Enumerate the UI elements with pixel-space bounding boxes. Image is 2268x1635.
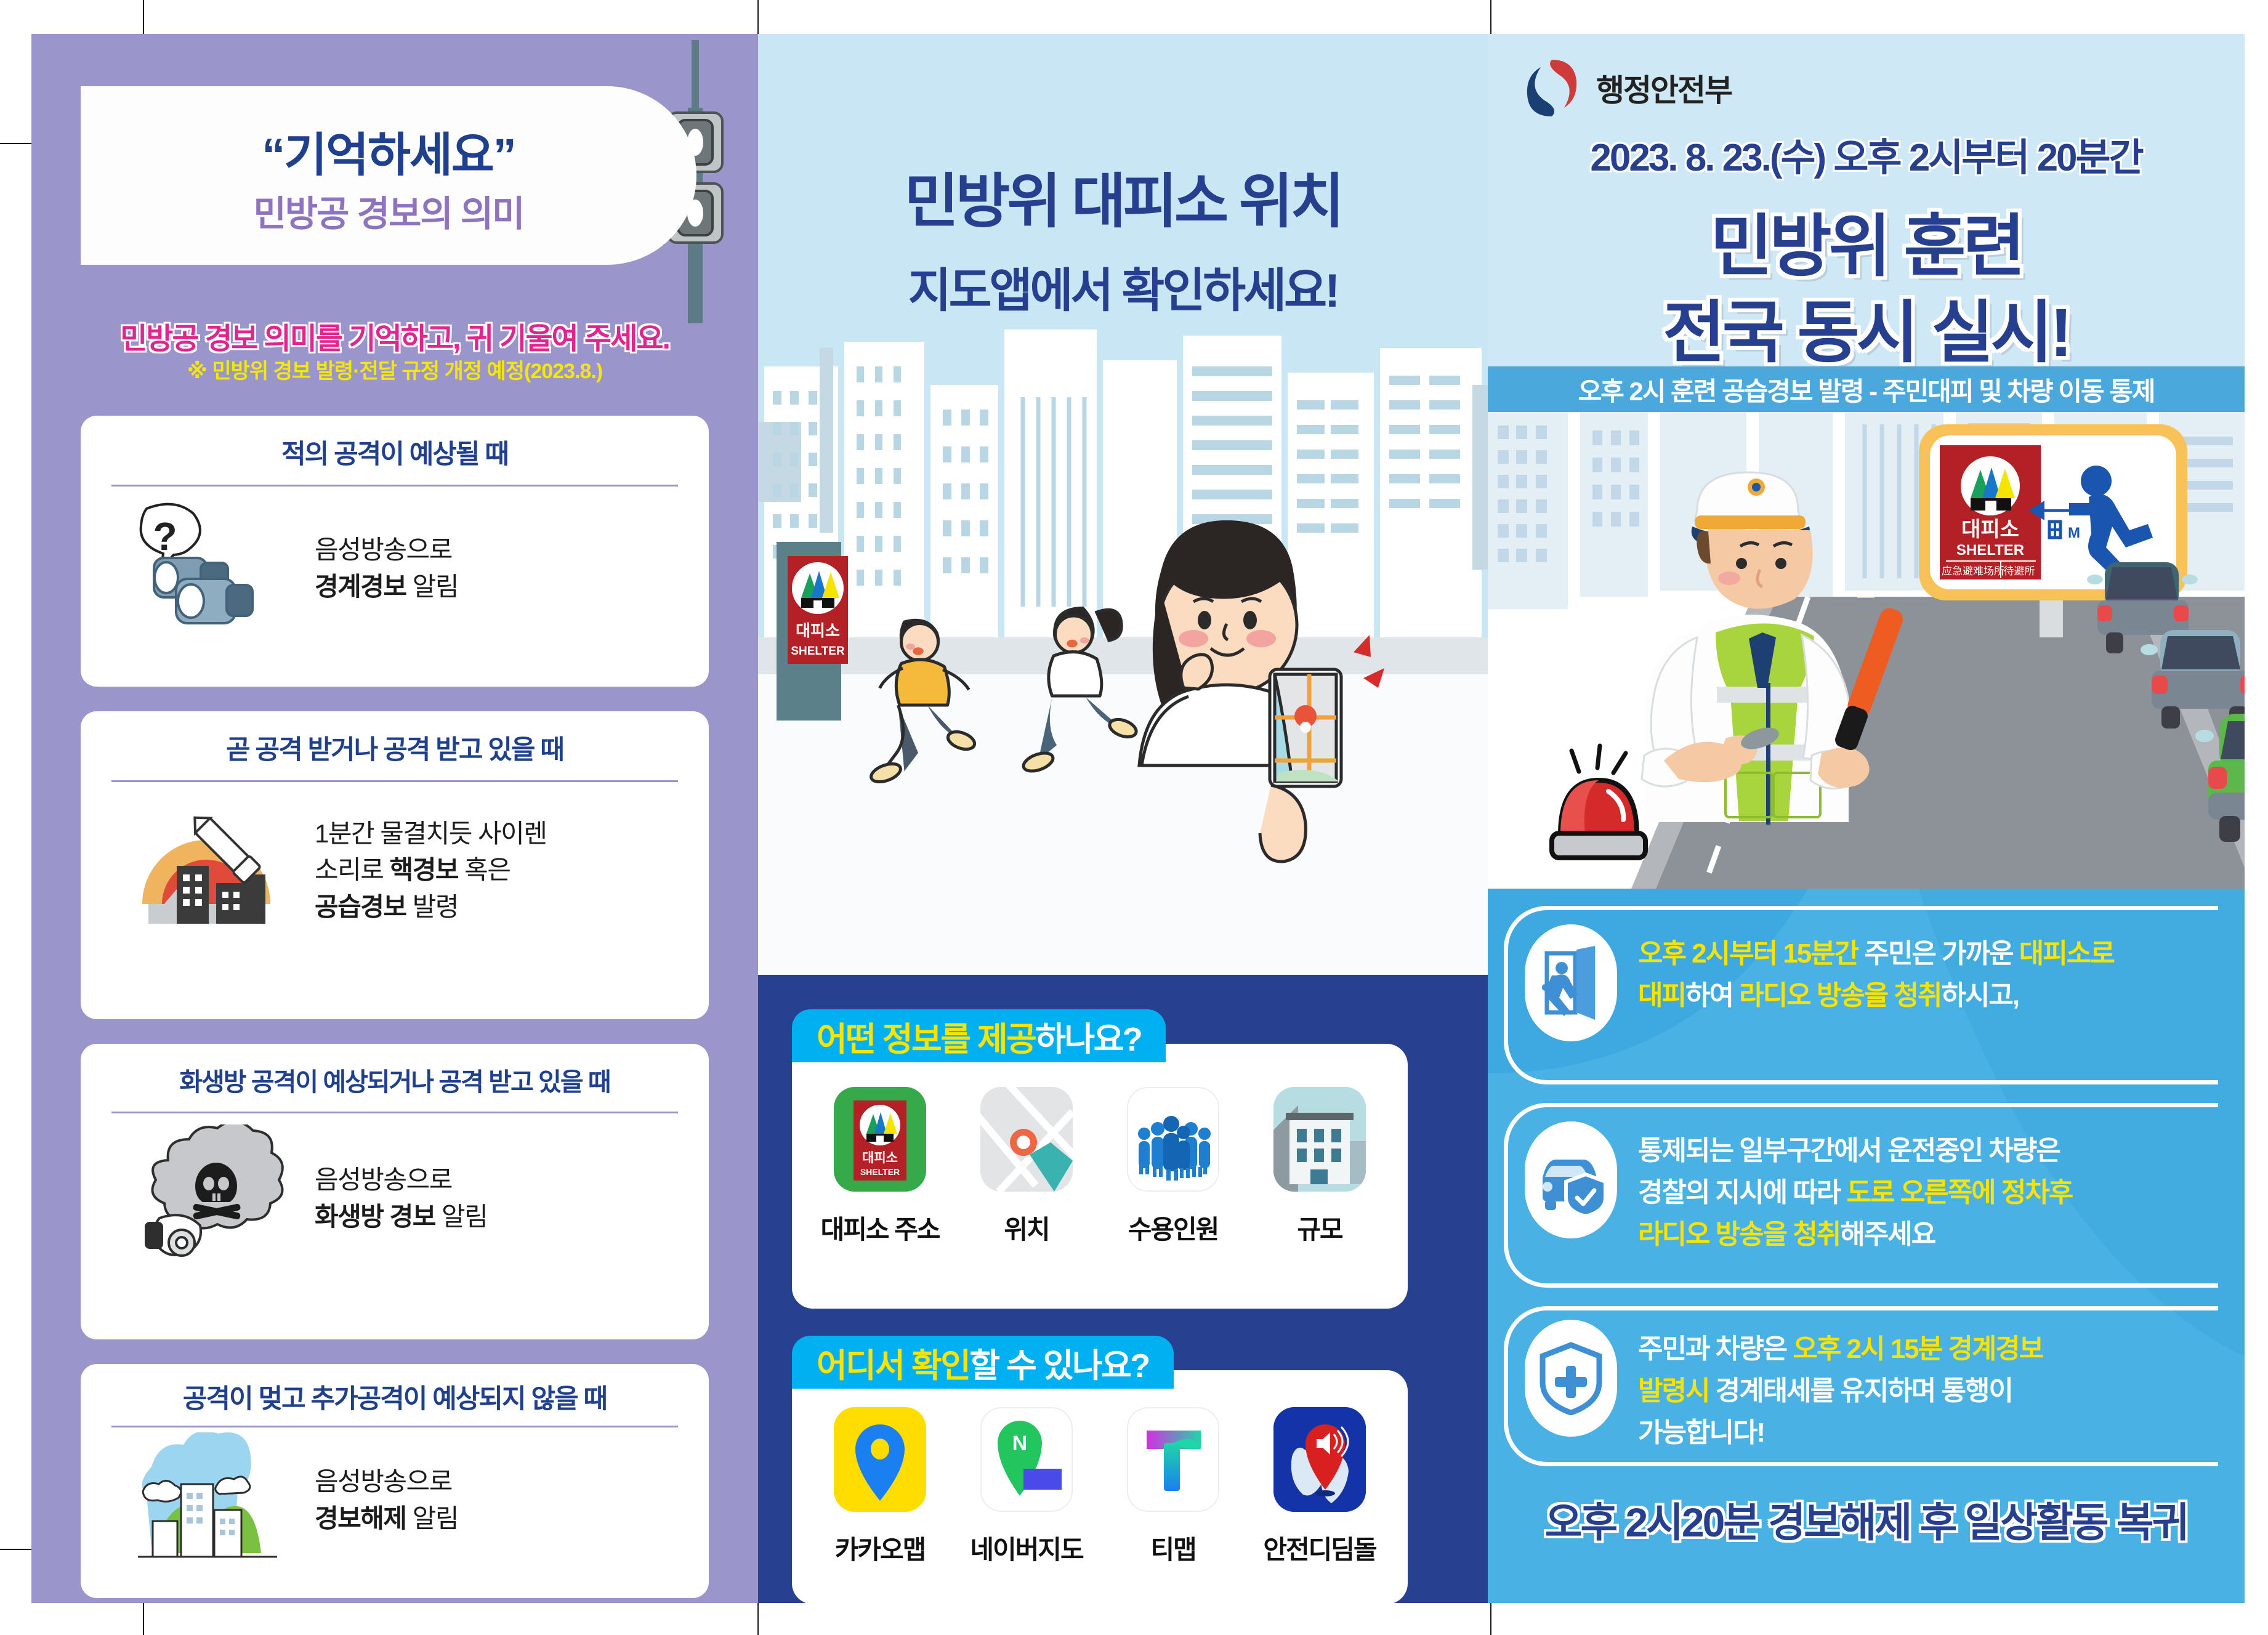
info-item-label: 위치 [965, 1209, 1088, 1246]
alert-card-4-line2-rest: 알림 [406, 1504, 458, 1533]
peaceful-city-icon [105, 1432, 309, 1568]
center-shelter-kr: 대피소 [796, 621, 840, 640]
government-name: 행정안전부 [1596, 66, 1732, 110]
app-item-label: 안전디딤돌 [1258, 1529, 1381, 1567]
left-headline: 민방공 경보 의미를 기억하고, 귀 기울여 주세요. [31, 314, 758, 357]
kakaomap-icon [834, 1407, 926, 1512]
info-panel-where: 어디서 확인할 수 있나요? 카카오맵 [792, 1370, 1408, 1603]
memo-card: “기억하세요” 민방공 경보의 의미 [81, 86, 696, 265]
svg-text:?: ? [153, 514, 177, 559]
b1-hl1: 오후 2시부터 15분간 [1638, 939, 1858, 969]
app-item-label: 네이버지도 [965, 1529, 1088, 1567]
alert-card-2: 곧 공격 받거나 공격 받고 있을 때 [81, 711, 709, 1019]
instruction-bullet-2: 통제되는 일부구간에서 운전중인 차량은 경찰의 지시에 따라 도로 오른쪽에 … [1525, 1121, 2072, 1256]
svg-text:SHELTER: SHELTER [860, 1167, 900, 1177]
people-group-icon [1127, 1087, 1219, 1192]
drill-title-line1: 민방위 훈련 [1488, 191, 2245, 289]
right-footer-notice: 오후 2시20분 경보해제 후 일상활동 복귀 [1488, 1490, 2245, 1549]
instruction-bullet-3: 주민과 차량은 오후 2시 15분 경계경보 발령시 경계태세를 유지하며 통행… [1525, 1320, 2043, 1455]
alert-card-1-line2-rest: 알림 [406, 572, 458, 601]
info-item-location[interactable]: 위치 [965, 1087, 1088, 1246]
right-instruction-area: 오후 2시부터 15분간 주민은 가까운 대피소로 대피하여 라디오 방송을 청… [1488, 889, 2245, 1603]
alert-card-3-keyword: 화생방 경보 [315, 1202, 435, 1231]
b1-t2: 주민은 가까운 [1858, 939, 2019, 969]
tab-rest-text: 할 수 있나요? [969, 1338, 1148, 1387]
alert-card-3-line1: 음성방송으로 [315, 1161, 684, 1198]
poster-body: “기억하세요” 민방공 경보의 의미 민방공 경보 의미를 기억하고, 귀 기울… [31, 34, 2245, 1603]
missile-city-icon [105, 793, 309, 947]
b1-hl3: 대피 [1638, 980, 1685, 1011]
drill-strip-notice: 오후 2시 훈련 공습경보 발령 - 주민대피 및 차량 이동 통제 [1488, 366, 2245, 412]
alert-card-3-line2-rest: 알림 [435, 1202, 487, 1231]
navermap-icon: N [980, 1407, 1073, 1512]
right-shelter-distance: M [2068, 525, 2080, 541]
alert-card-2-line1: 1분간 물결치듯 사이렌 [315, 815, 684, 852]
b3-hl2: 발령시 [1638, 1376, 1709, 1406]
alert-card-1-title: 적의 공격이 예상될 때 [81, 416, 709, 485]
alert-card-1-keyword: 경계경보 [315, 572, 406, 601]
b1-t5: 하여 [1685, 980, 1739, 1011]
korea-government-taegeuk-icon [1525, 57, 1580, 119]
instruction-bullet-1-text: 오후 2시부터 15분간 주민은 가까운 대피소로 대피하여 라디오 방송을 청… [1638, 924, 2114, 1017]
drill-date: 2023. 8. 23.(수) 오후 2시부터 20분간 [1488, 126, 2245, 182]
info-item-label: 대피소 주소 [818, 1209, 942, 1246]
alert-card-2-keyword-1: 핵경보 [390, 855, 458, 884]
alert-card-2-title: 곧 공격 받거나 공격 받고 있을 때 [81, 711, 709, 780]
left-panel: “기억하세요” 민방공 경보의 의미 민방공 경보 의미를 기억하고, 귀 기울… [31, 34, 758, 1603]
tab-highlight-text: 어디서 확인 [817, 1338, 969, 1387]
info-panel-what: 어떤 정보를 제공하나요? 대피소 SH [792, 1044, 1408, 1309]
alert-card-3-title: 화생방 공격이 예상되거나 공격 받고 있을 때 [81, 1044, 709, 1112]
tab-rest-text: 하나요? [1035, 1012, 1141, 1060]
alert-card-4-line1: 음성방송으로 [315, 1463, 684, 1500]
app-item-kakaomap[interactable]: 카카오맵 [818, 1407, 942, 1567]
b2-t3: 경찰의 지시에 따라 [1638, 1177, 1847, 1208]
right-shelter-jp: 待避所 [2004, 565, 2035, 578]
shelter-app-icon: 대피소 SHELTER [834, 1087, 926, 1192]
alert-card-4-text: 음성방송으로 경보해제 알림 [315, 1463, 684, 1536]
alert-card-1-text: 음성방송으로 경계경보 알림 [315, 531, 684, 605]
center-shelter-en: SHELTER [791, 645, 845, 658]
memo-quote: “기억하세요” [81, 117, 696, 185]
alert-card-2-text: 1분간 물결치듯 사이렌 소리로 핵경보 혹은 공습경보 발령 [315, 815, 684, 926]
b3-t1: 주민과 차량은 [1638, 1334, 1793, 1364]
center-title-line1: 민방위 대피소 위치 [758, 172, 1488, 232]
info-panel-what-tab: 어떤 정보를 제공하나요? [792, 1009, 1166, 1062]
info-panel-where-tab: 어디서 확인할 수 있나요? [792, 1336, 1174, 1389]
app-item-tmap[interactable]: 티맵 [1112, 1407, 1235, 1567]
b1-hl4: 라디오 방송을 청취 [1739, 980, 1941, 1011]
right-shelter-en: SHELTER [1956, 542, 2024, 559]
alert-card-2-line2-rest: 혹은 [458, 855, 510, 884]
tab-highlight-text: 어떤 정보를 제공 [817, 1012, 1035, 1060]
exit-door-run-icon [1525, 924, 1617, 1041]
info-item-shelter-address[interactable]: 대피소 SHELTER 대피소 주소 [818, 1087, 942, 1246]
gasmask-skull-icon [105, 1124, 309, 1272]
building-icon [1273, 1087, 1366, 1192]
anjeon-didimdol-icon [1273, 1407, 1366, 1512]
instruction-bullet-2-text: 통제되는 일부구간에서 운전중인 차량은 경찰의 지시에 따라 도로 오른쪽에 … [1638, 1121, 2072, 1256]
right-panel: 행정안전부 2023. 8. 23.(수) 오후 2시부터 20분간 민방위 훈… [1488, 34, 2245, 1603]
b2-hl2: 라디오 방송을 청취 [1638, 1219, 1840, 1249]
center-panel: 민방위 대피소 위치 지도앱에서 확인하세요! [758, 34, 1488, 1603]
b3-t4: 경계태세를 유지하며 통행이 [1709, 1376, 2012, 1406]
svg-text:대피소: 대피소 [862, 1151, 898, 1165]
info-item-capacity[interactable]: 수용인원 [1112, 1087, 1235, 1246]
government-branding: 행정안전부 [1525, 57, 1732, 119]
b3-hl1: 오후 2시 15분 경계경보 [1793, 1334, 2043, 1364]
alert-card-2-line2-pre: 소리로 [315, 855, 390, 884]
alert-card-1-line1: 음성방송으로 [315, 531, 684, 568]
alert-card-4-title: 공격이 멎고 추가공격이 예상되지 않을 때 [81, 1364, 709, 1426]
tmap-icon [1127, 1407, 1219, 1512]
drill-title-line2: 전국 동시 실시! [1488, 277, 2245, 376]
alert-card-3-text: 음성방송으로 화생방 경보 알림 [315, 1161, 684, 1235]
instruction-bullet-3-text: 주민과 차량은 오후 2시 15분 경계경보 발령시 경계태세를 유지하며 통행… [1638, 1320, 2043, 1455]
b2-hl1: 도로 오른쪽에 정차후 [1847, 1177, 2073, 1208]
car-shield-icon [1525, 1121, 1617, 1238]
instruction-bullet-1: 오후 2시부터 15분간 주민은 가까운 대피소로 대피하여 라디오 방송을 청… [1525, 924, 2114, 1041]
center-city-illustration: 대피소 SHELTER [758, 329, 1488, 982]
app-item-label: 카카오맵 [818, 1529, 942, 1567]
alert-card-4-keyword: 경보해제 [315, 1504, 406, 1533]
left-note: ※ 민방위 경보 발령·전달 규정 개정 예정(2023.8.) [31, 354, 758, 384]
app-item-label: 티맵 [1112, 1529, 1235, 1567]
memo-subtitle: 민방공 경보의 의미 [81, 185, 696, 236]
b3-t6: 가능합니다! [1638, 1418, 1764, 1448]
alert-card-2-keyword-2: 공습경보 [315, 892, 406, 921]
shield-plus-icon [1525, 1320, 1617, 1437]
map-pin-icon [980, 1087, 1073, 1192]
alert-card-3: 화생방 공격이 예상되거나 공격 받고 있을 때 [81, 1044, 709, 1339]
app-item-navermap[interactable]: N 네이버지도 [965, 1407, 1088, 1567]
alert-card-2-line3-rest: 발령 [406, 892, 458, 921]
right-shelter-cn: 应急避难场所 [1942, 565, 2004, 578]
info-item-size[interactable]: 규모 [1258, 1087, 1381, 1246]
info-item-label: 수용인원 [1112, 1209, 1235, 1246]
b1-t7: 하시고, [1941, 980, 2019, 1011]
binoculars-question-icon: ? [105, 498, 309, 639]
svg-text:N: N [1012, 1432, 1028, 1455]
app-item-anjeon-didimdol[interactable]: 안전디딤돌 [1258, 1407, 1381, 1567]
b2-t1: 통제되는 일부구간에서 운전중인 차량은 [1638, 1136, 2060, 1166]
alert-card-1: 적의 공격이 예상될 때 ? [81, 416, 709, 687]
b1-hl2: 대피소로 [2019, 939, 2114, 969]
right-shelter-kr: 대피소 [1961, 518, 2019, 541]
b2-t6: 해주세요 [1840, 1219, 1935, 1249]
info-item-label: 규모 [1258, 1209, 1381, 1246]
alert-card-4: 공격이 멎고 추가공격이 예상되지 않을 때 [81, 1364, 709, 1598]
center-title-line2: 지도앱에서 확인하세요! [758, 252, 1488, 320]
